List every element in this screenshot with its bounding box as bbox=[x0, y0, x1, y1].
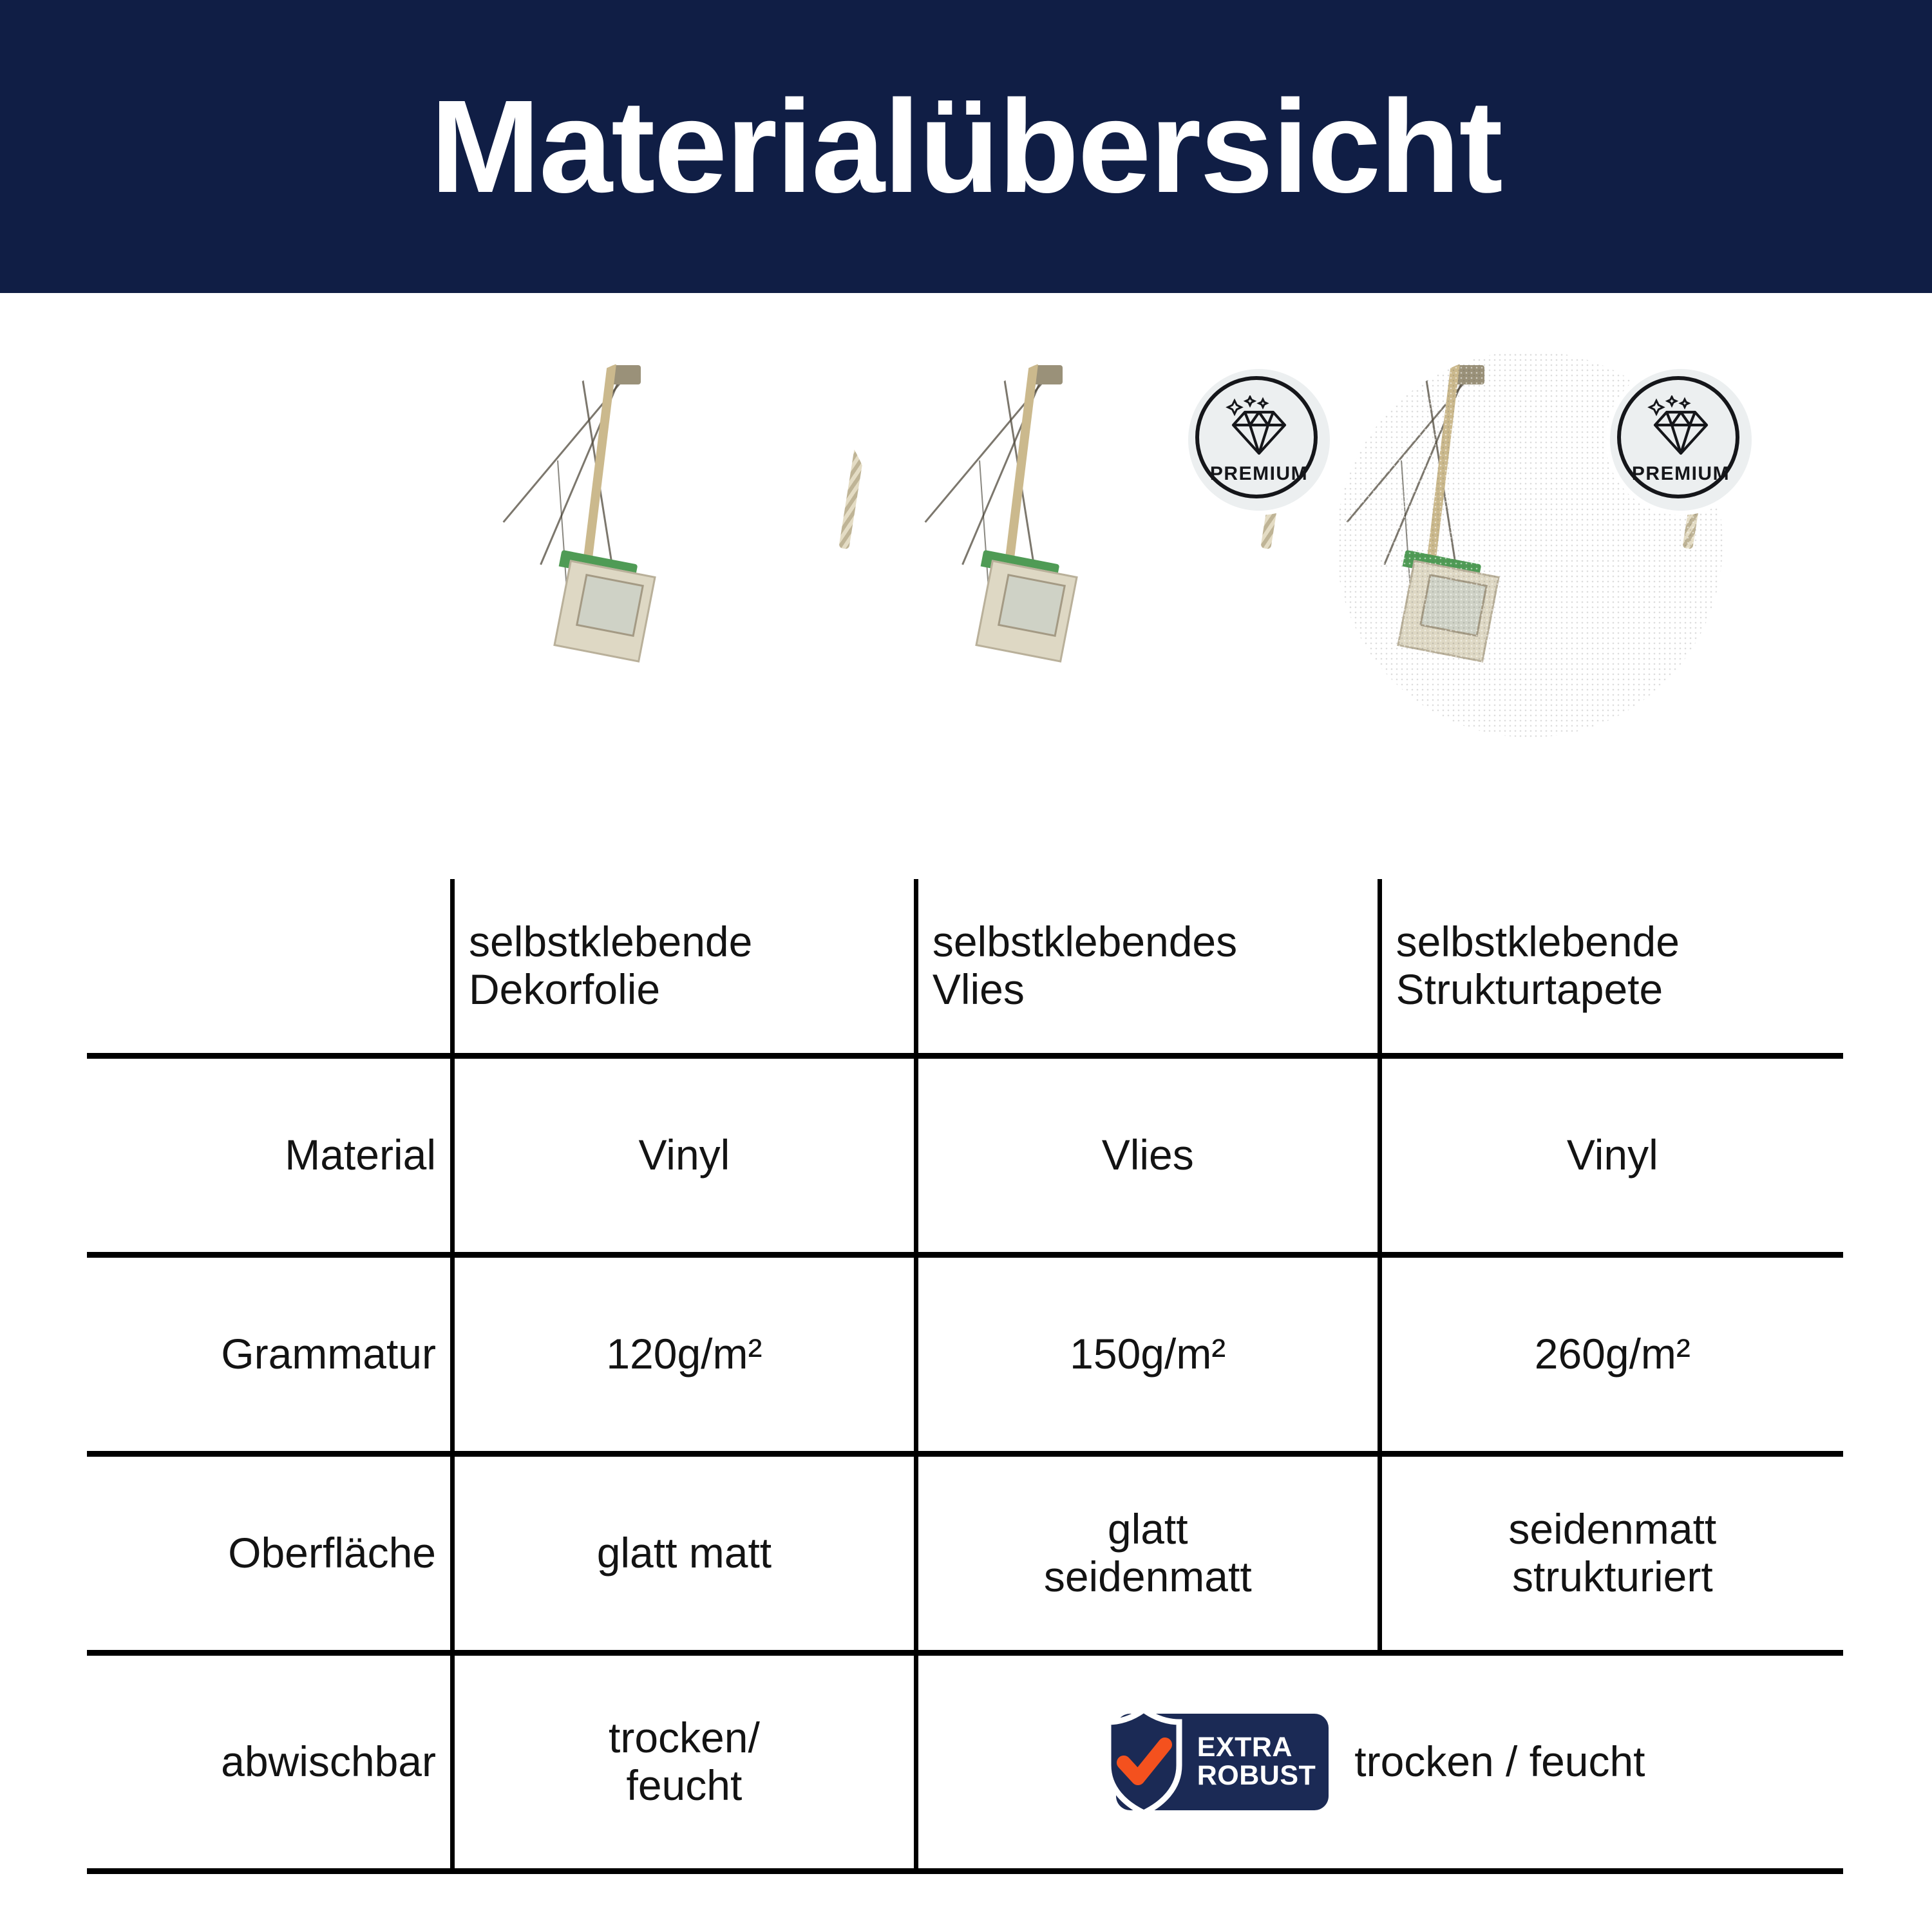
table-corner-cell bbox=[87, 879, 453, 1056]
cell-grammatur-vlies: 150g/m² bbox=[916, 1255, 1379, 1454]
cell-abwischbar-dekorfolie: trocken/ feucht bbox=[453, 1653, 916, 1871]
cell-material-vlies: Vlies bbox=[916, 1056, 1379, 1255]
material-comparison-table: selbstklebende Dekorfolie selbstklebende… bbox=[87, 879, 1843, 1826]
cell-abwischbar-merged-text: trocken / feucht bbox=[1354, 1738, 1645, 1786]
table-header-row: selbstklebende Dekorfolie selbstklebende… bbox=[87, 879, 1843, 1056]
premium-label: PREMIUM bbox=[1632, 463, 1730, 485]
header-line-1: selbstklebende bbox=[469, 918, 900, 966]
cell-grammatur-strukturtapete: 260g/m² bbox=[1379, 1255, 1843, 1454]
cell-abwischbar-merged: EXTRA ROBUST trocken / feucht bbox=[916, 1653, 1843, 1871]
cell-line-1: glatt bbox=[933, 1506, 1363, 1553]
robust-line-2: ROBUST bbox=[1197, 1762, 1316, 1790]
cell-oberflaeche-strukturtapete: seidenmatt strukturiert bbox=[1379, 1454, 1843, 1653]
cell-line-2: strukturiert bbox=[1396, 1553, 1829, 1601]
column-header-vlies: selbstklebendes Vlies bbox=[916, 879, 1379, 1056]
cell-material-dekorfolie: Vinyl bbox=[453, 1056, 916, 1255]
header-line-2: Vlies bbox=[933, 966, 1363, 1014]
table-row-material: Material Vinyl Vlies Vinyl bbox=[87, 1056, 1843, 1255]
column-header-dekorfolie: selbstklebende Dekorfolie bbox=[453, 879, 916, 1056]
column-header-strukturtapete: selbstklebende Strukturtapete bbox=[1379, 879, 1843, 1056]
extra-robust-badge: EXTRA ROBUST bbox=[1116, 1714, 1329, 1810]
product-preview-strukturtapete[interactable]: PREMIUM bbox=[1336, 351, 1723, 737]
cell-line-2: feucht bbox=[469, 1762, 900, 1810]
boat-photo bbox=[493, 351, 879, 737]
header-line-2: Dekorfolie bbox=[469, 966, 900, 1014]
diamond-icon bbox=[1647, 395, 1714, 460]
row-label-abwischbar: abwischbar bbox=[87, 1653, 453, 1871]
cell-line-1: seidenmatt bbox=[1396, 1506, 1829, 1553]
page-title: Materialübersicht bbox=[430, 80, 1501, 213]
cell-material-strukturtapete: Vinyl bbox=[1379, 1056, 1843, 1255]
product-preview-row: PREMIUM bbox=[0, 351, 1932, 763]
premium-badge: PREMIUM bbox=[1188, 369, 1330, 511]
row-label-grammatur: Grammatur bbox=[87, 1255, 453, 1454]
product-image-circle bbox=[493, 351, 879, 737]
product-preview-vlies[interactable]: PREMIUM bbox=[914, 351, 1301, 737]
cell-line-2: seidenmatt bbox=[933, 1553, 1363, 1601]
cell-oberflaeche-dekorfolie: glatt matt bbox=[453, 1454, 916, 1653]
header-line-2: Strukturtapete bbox=[1396, 966, 1829, 1014]
premium-badge: PREMIUM bbox=[1610, 369, 1752, 511]
table-row-oberflaeche: Oberfläche glatt matt glatt seidenmatt s… bbox=[87, 1454, 1843, 1653]
page-header: Materialübersicht bbox=[0, 0, 1932, 293]
diamond-icon bbox=[1226, 395, 1293, 460]
table-row-grammatur: Grammatur 120g/m² 150g/m² 260g/m² bbox=[87, 1255, 1843, 1454]
table-row-abwischbar: abwischbar trocken/ feucht bbox=[87, 1653, 1843, 1871]
cell-oberflaeche-vlies: glatt seidenmatt bbox=[916, 1454, 1379, 1653]
header-line-1: selbstklebendes bbox=[933, 918, 1363, 966]
cell-grammatur-dekorfolie: 120g/m² bbox=[453, 1255, 916, 1454]
shield-check-icon bbox=[1102, 1706, 1186, 1817]
header-line-1: selbstklebende bbox=[1396, 918, 1829, 966]
product-preview-dekorfolie[interactable] bbox=[493, 351, 879, 737]
robust-line-1: EXTRA bbox=[1197, 1734, 1293, 1762]
cell-line-1: trocken/ bbox=[469, 1714, 900, 1762]
premium-label: PREMIUM bbox=[1210, 463, 1308, 485]
row-label-oberflaeche: Oberfläche bbox=[87, 1454, 453, 1653]
row-label-material: Material bbox=[87, 1056, 453, 1255]
